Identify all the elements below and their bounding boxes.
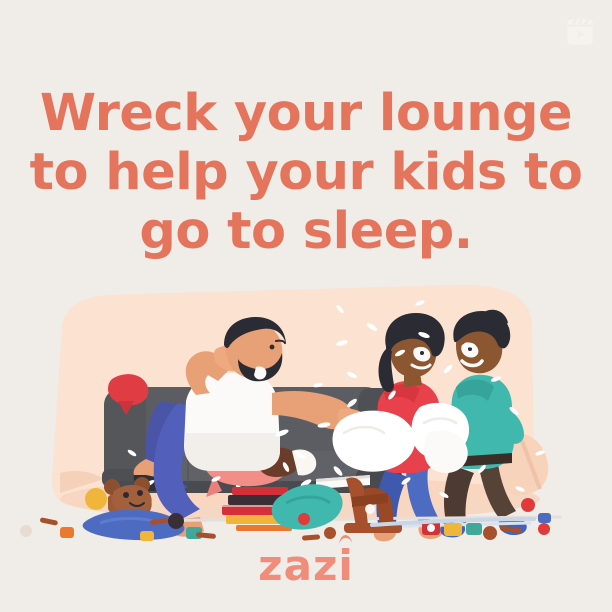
headline-line-1: Wreck your lounge [18, 84, 594, 143]
brand-logo[interactable]: zazi [0, 541, 612, 590]
headline-line-2: to help your kids to [18, 143, 594, 202]
headline-line-3: go to sleep. [18, 202, 594, 261]
illustration-svg [0, 283, 612, 551]
reels-clapperboard-icon [565, 17, 595, 47]
reels-badge[interactable] [562, 14, 598, 50]
headline: Wreck your lounge to help your kids to g… [0, 84, 612, 261]
brand-logo-text: zazi [258, 541, 354, 590]
illustration [0, 283, 612, 551]
poster-canvas: Wreck your lounge to help your kids to g… [0, 0, 612, 612]
